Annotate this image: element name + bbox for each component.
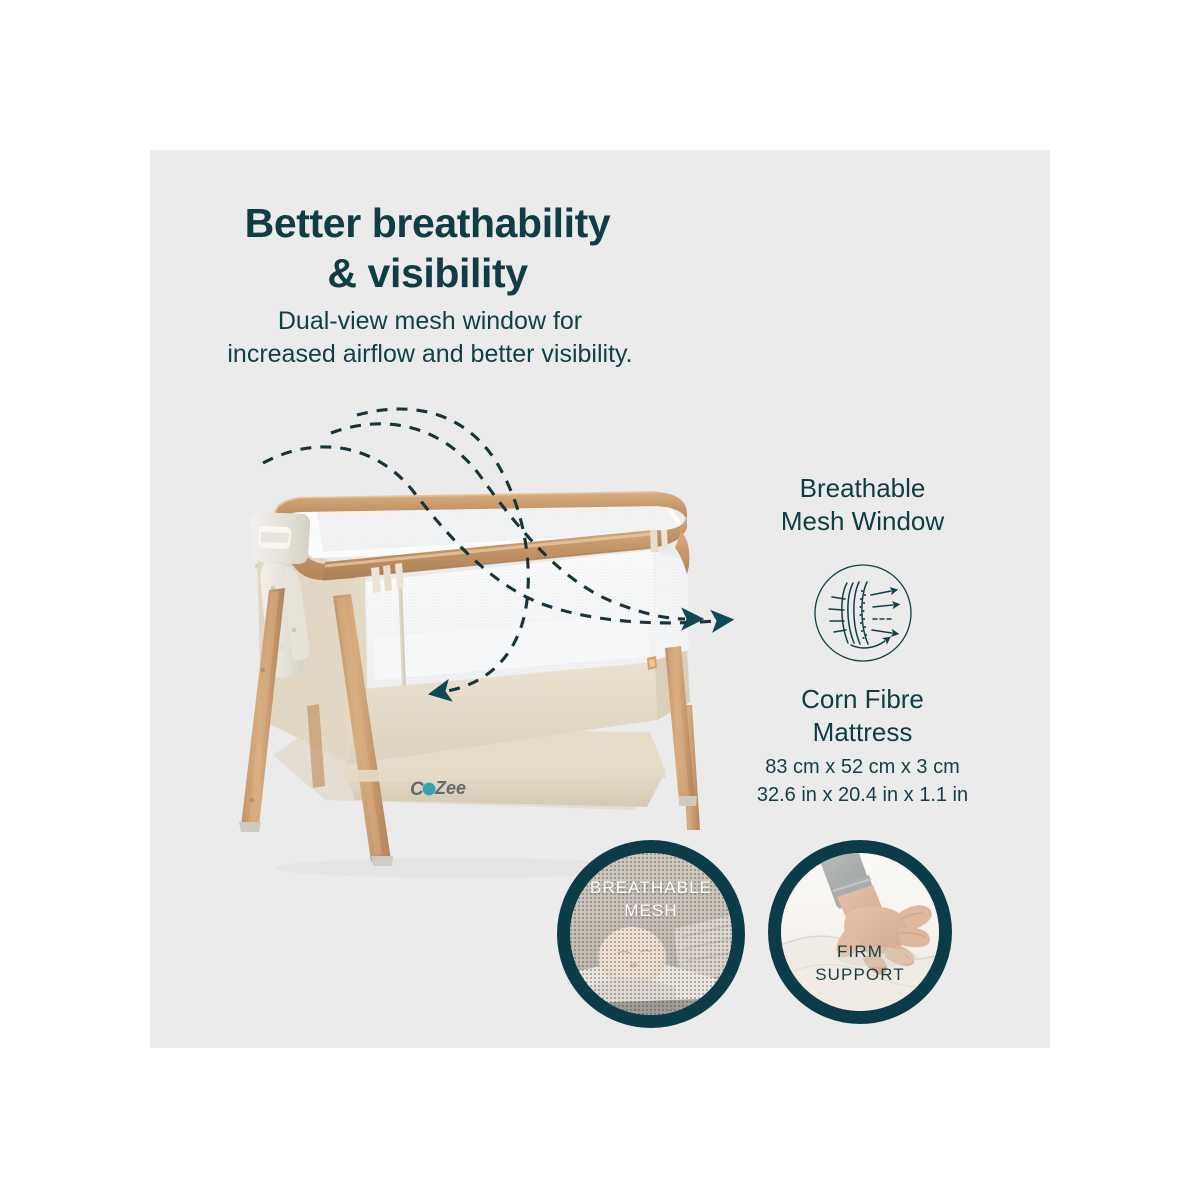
dimensions-imperial: 32.6 in x 20.4 in x 1.1 in (735, 781, 990, 809)
screenshot-root: Better breathability & visibility Dual-v… (0, 0, 1200, 1200)
page-title: Better breathability & visibility (175, 198, 680, 298)
badge-mesh-line-2: MESH (570, 900, 732, 923)
mattress-dimensions: 83 cm x 52 cm x 3 cm 32.6 in x 20.4 in x… (735, 753, 990, 810)
mesh-title-line-2: Mesh Window (735, 505, 990, 538)
badge-label-breathable-mesh: BREATHABLE MESH (570, 877, 732, 923)
headline-line-2: & visibility (175, 248, 680, 298)
dimensions-metric: 83 cm x 52 cm x 3 cm (735, 753, 990, 781)
badge-firm-support: FIRM SUPPORT (768, 840, 952, 1024)
subhead-line-2: increased airflow and better visibility. (165, 338, 695, 371)
feature-column: Breathable Mesh Window (735, 472, 990, 810)
badge-label-firm-support: FIRM SUPPORT (781, 941, 939, 987)
badge-mesh-line-1: BREATHABLE (570, 877, 732, 900)
brand-logo-cozee: C Zee (410, 778, 466, 800)
badge-photo-hand-on-mattress (781, 853, 939, 1011)
subhead-line-1: Dual-view mesh window for (165, 305, 695, 338)
mesh-title-line-1: Breathable (735, 472, 990, 505)
page-subtitle: Dual-view mesh window for increased airf… (165, 305, 695, 371)
mesh-window-title: Breathable Mesh Window (735, 472, 990, 539)
airflow-layers-icon (811, 561, 915, 665)
svg-text:C: C (410, 779, 424, 800)
badge-firm-line-1: FIRM (781, 941, 939, 964)
headline-line-1: Better breathability (175, 198, 680, 248)
mattress-title-line-2: Mattress (735, 716, 990, 749)
svg-text:Zee: Zee (434, 778, 466, 798)
badge-breathable-mesh: BREATHABLE MESH (557, 840, 745, 1028)
bassinet-zip-pull (647, 656, 657, 670)
badge-firm-line-2: SUPPORT (781, 964, 939, 987)
product-image-bassinet: tutti (195, 470, 755, 890)
mattress-title: Corn Fibre Mattress (735, 683, 990, 750)
mattress-title-line-1: Corn Fibre (735, 683, 990, 716)
